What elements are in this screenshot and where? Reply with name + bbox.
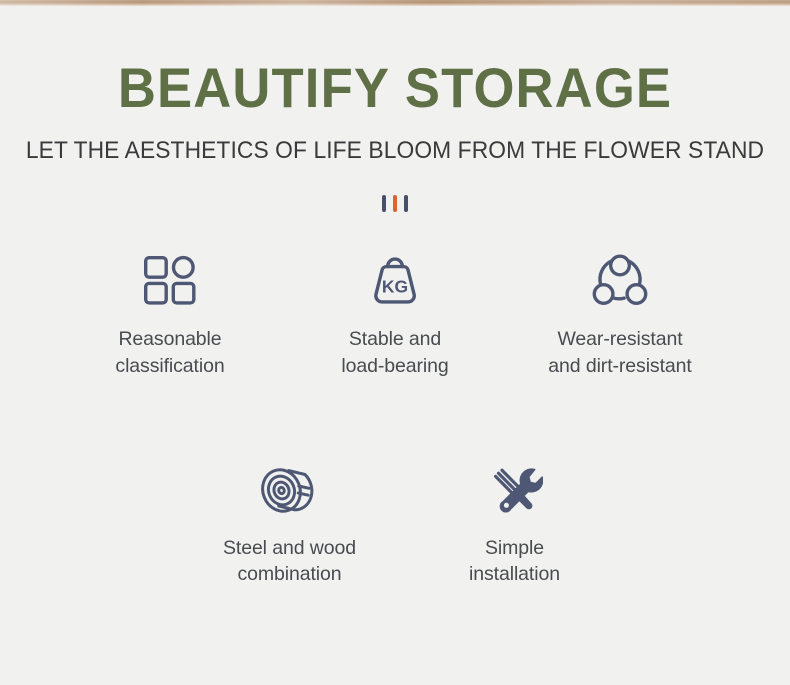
feature-row-1: Reasonable classification KG Stable and …	[45, 252, 745, 379]
wood-log-icon	[260, 461, 320, 517]
feature-reasonable-classification: Reasonable classification	[58, 252, 283, 379]
feature-label: Simple installation	[469, 517, 560, 588]
promo-banner: BEAUTIFY STORAGE LET THE AESTHETICS OF L…	[0, 6, 790, 685]
feature-stable-load-bearing: KG Stable and load-bearing	[283, 252, 508, 379]
vertical-bar-icon	[382, 195, 386, 212]
kg-weight-icon-text: KG	[382, 277, 408, 297]
kg-weight-icon: KG	[367, 252, 423, 308]
cycle-three-circles-icon	[591, 252, 649, 308]
feature-label: Steel and wood combination	[223, 517, 356, 588]
feature-label: Reasonable classification	[115, 308, 224, 379]
vertical-bar-icon	[393, 195, 397, 212]
feature-label: Wear-resistant and dirt-resistant	[548, 308, 691, 379]
page-title: BEAUTIFY STORAGE	[24, 6, 767, 116]
feature-list: Reasonable classification KG Stable and …	[45, 212, 745, 587]
feature-simple-installation: Simple installation	[402, 461, 627, 588]
page-subtitle: LET THE AESTHETICS OF LIFE BLOOM FROM TH…	[20, 116, 771, 164]
wrench-screwdriver-icon	[487, 461, 543, 517]
feature-label: Stable and load-bearing	[341, 308, 448, 379]
vertical-bar-icon	[404, 195, 408, 212]
feature-row-2: Steel and wood combination	[45, 379, 745, 588]
grid-category-icon	[142, 252, 198, 308]
feature-steel-wood-combination: Steel and wood combination	[177, 461, 402, 588]
feature-wear-dirt-resistant: Wear-resistant and dirt-resistant	[508, 252, 733, 379]
three-bar-divider	[0, 164, 790, 212]
